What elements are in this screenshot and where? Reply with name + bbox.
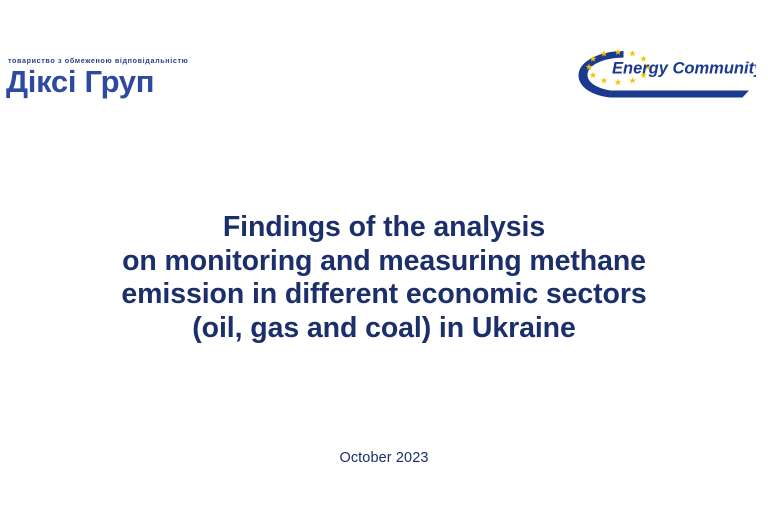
dixi-group-logo: товариство з обмеженою відповідальністю …: [6, 56, 266, 99]
slide-date: October 2023: [0, 450, 768, 466]
dixi-group-name: Діксі Груп: [6, 65, 266, 99]
title-line-4: (oil, gas and coal) in Ukraine: [0, 312, 768, 346]
title-line-2: on monitoring and measuring methane: [0, 245, 768, 279]
energy-community-logo: Energy Community: [566, 44, 756, 104]
slide-title: Findings of the analysis on monitoring a…: [0, 211, 768, 345]
title-line-1: Findings of the analysis: [0, 211, 768, 245]
title-line-3: emission in different economic sectors: [0, 278, 768, 312]
energy-community-wordmark: Energy Community: [612, 60, 756, 78]
presentation-title-slide: товариство з обмеженою відповідальністю …: [0, 0, 768, 512]
